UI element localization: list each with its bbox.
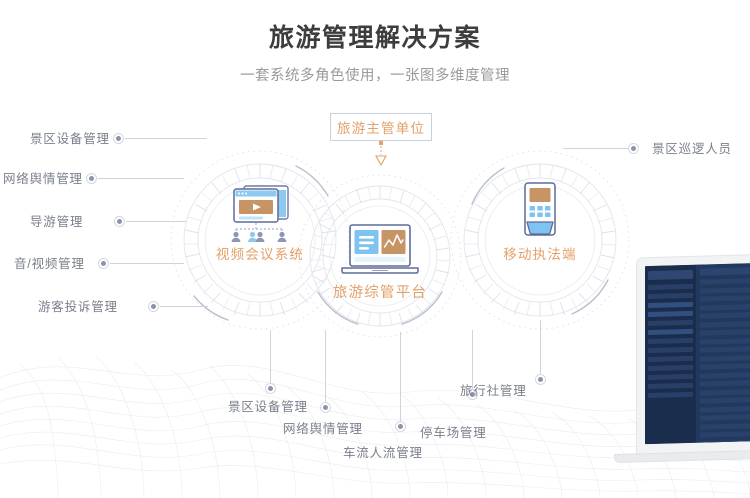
page-title: 旅游管理解决方案 (0, 22, 750, 54)
dashboard-menu-item (648, 374, 693, 380)
dashboard-row (700, 328, 750, 336)
dot-left-1 (113, 133, 124, 144)
dot-bottom-1 (265, 383, 276, 394)
connector-bottom-4 (472, 330, 473, 389)
dashboard-row (700, 387, 750, 395)
bottom-item-label-1: 景区设备管理 (228, 399, 308, 415)
handheld-terminal-icon (512, 180, 568, 246)
authority-badge[interactable]: 旅游主管单位 (330, 113, 432, 141)
dashboard-row (700, 277, 750, 285)
header: 旅游管理解决方案 一套系统多角色使用，一张图多维度管理 (0, 22, 750, 86)
connector-bottom-5 (540, 320, 541, 374)
dashboard-row (700, 404, 750, 412)
dashboard-row (700, 362, 750, 370)
laptop-dashboard-icon (332, 222, 428, 284)
laptop-screen (636, 253, 750, 456)
authority-badge-label: 旅游主管单位 (337, 117, 425, 137)
video-conference-icon (220, 182, 300, 246)
connector-left-5 (160, 306, 208, 307)
connector-left-3 (126, 221, 186, 222)
node-tourism-platform[interactable]: 旅游综管平台 (320, 222, 440, 302)
dot-bottom-5 (535, 374, 546, 385)
dashboard-menu-item (648, 320, 693, 326)
dot-left-2 (86, 173, 97, 184)
left-item-label-3: 导游管理 (30, 214, 83, 230)
connector-left-1 (125, 138, 207, 139)
connector-left-4 (110, 263, 184, 264)
dashboard-row (700, 294, 750, 302)
dashboard-row (700, 379, 750, 387)
infographic-canvas: 旅游管理解决方案 一套系统多角色使用，一张图多维度管理 旅游主管单位 (0, 0, 750, 498)
left-item-label-2: 网络舆情管理 (3, 171, 83, 187)
dashboard-row (700, 370, 750, 378)
node-tourism-platform-label: 旅游综管平台 (320, 284, 440, 302)
dashboard-menu-item (648, 284, 693, 290)
node-video-conference[interactable]: 视频会议系统 (200, 182, 320, 264)
dashboard-ui (645, 262, 750, 444)
dashboard-menu-item (648, 347, 693, 353)
dashboard-sidebar (645, 265, 696, 444)
node-video-conference-label: 视频会议系统 (200, 246, 320, 264)
bottom-item-label-4: 停车场管理 (420, 425, 487, 441)
node-mobile-enforcement-label: 移动执法端 (480, 246, 600, 264)
dashboard-menu-item (648, 302, 693, 308)
dashboard-row (700, 311, 750, 319)
dashboard-row (700, 345, 750, 353)
dashboard-menu-item (648, 293, 693, 299)
page-subtitle: 一套系统多角色使用，一张图多维度管理 (0, 66, 750, 86)
dashboard-row (700, 438, 750, 444)
node-mobile-enforcement[interactable]: 移动执法端 (480, 180, 600, 264)
dashboard-toolbar (700, 266, 750, 276)
connector-bottom-1 (270, 330, 271, 383)
dashboard-menu-item (648, 365, 693, 371)
right-item-label-1: 景区巡逻人员 (652, 141, 732, 157)
dashboard-menu-item (648, 392, 693, 398)
dot-bottom-3 (395, 421, 406, 432)
dashboard-menu-item (648, 338, 693, 344)
dashboard-content (696, 262, 750, 443)
left-item-label-1: 景区设备管理 (30, 131, 110, 147)
dashboard-row (700, 319, 750, 327)
dot-bottom-2 (320, 402, 331, 413)
dashboard-row (700, 421, 750, 429)
dashboard-row (700, 396, 750, 404)
bottom-item-label-2: 网络舆情管理 (283, 421, 363, 437)
dot-right-1 (628, 143, 639, 154)
connector-bottom-2 (325, 330, 326, 402)
dashboard-row (700, 413, 750, 421)
connector-bottom-3 (400, 332, 401, 421)
dashboard-row (700, 430, 750, 438)
dashboard-row (700, 336, 750, 344)
dashboard-row (700, 302, 750, 310)
triangle-down-icon (372, 141, 390, 169)
bottom-item-label-3: 车流人流管理 (343, 445, 423, 461)
dashboard-menu-item (648, 356, 693, 362)
left-item-label-4: 音/视频管理 (14, 256, 85, 272)
connector-left-2 (98, 178, 184, 179)
left-item-label-5: 游客投诉管理 (38, 299, 118, 315)
laptop-dashboard-preview (636, 255, 750, 485)
dashboard-menu-item (648, 311, 693, 317)
dashboard-menu-item (648, 329, 693, 335)
connector-right-1 (563, 148, 628, 149)
dashboard-menu-item (648, 383, 693, 389)
dashboard-row (700, 285, 750, 293)
dot-left-4 (98, 258, 109, 269)
dashboard-row (700, 353, 750, 361)
bottom-item-label-5: 旅行社管理 (460, 383, 527, 399)
dot-left-5 (148, 301, 159, 312)
dot-left-3 (114, 216, 125, 227)
dashboard-logo (648, 270, 693, 280)
